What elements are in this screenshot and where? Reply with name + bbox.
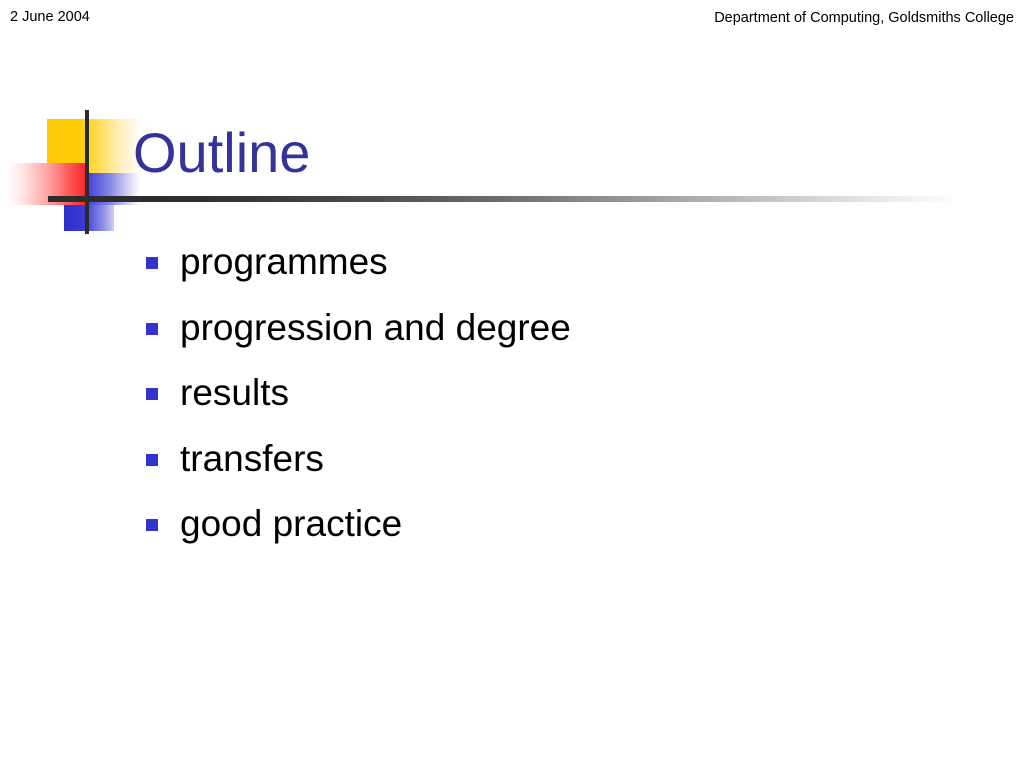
list-item: progression and degree — [146, 302, 966, 368]
title-divider — [48, 196, 960, 202]
list-item: transfers — [146, 433, 966, 499]
bullet-square-icon — [146, 257, 158, 269]
logo-vertical-line-icon — [85, 110, 89, 234]
bullet-list: programmes progression and degree result… — [146, 236, 966, 564]
list-item-label: results — [180, 367, 289, 419]
list-item-label: programmes — [180, 236, 388, 288]
bullet-square-icon — [146, 519, 158, 531]
slide-department-label: Department of Computing, Goldsmiths Coll… — [714, 9, 1014, 27]
list-item-label: good practice — [180, 498, 402, 550]
list-item: results — [146, 367, 966, 433]
presentation-slide: 2 June 2004 Department of Computing, Gol… — [0, 0, 1024, 768]
slide-date: 2 June 2004 — [10, 8, 90, 26]
slide-title: Outline — [133, 117, 310, 189]
list-item-label: progression and degree — [180, 302, 571, 354]
list-item: good practice — [146, 498, 966, 564]
bullet-square-icon — [146, 454, 158, 466]
list-item-label: transfers — [180, 433, 324, 485]
bullet-square-icon — [146, 388, 158, 400]
logo-blue-lower-block-icon — [64, 205, 114, 231]
list-item: programmes — [146, 236, 966, 302]
bullet-square-icon — [146, 323, 158, 335]
